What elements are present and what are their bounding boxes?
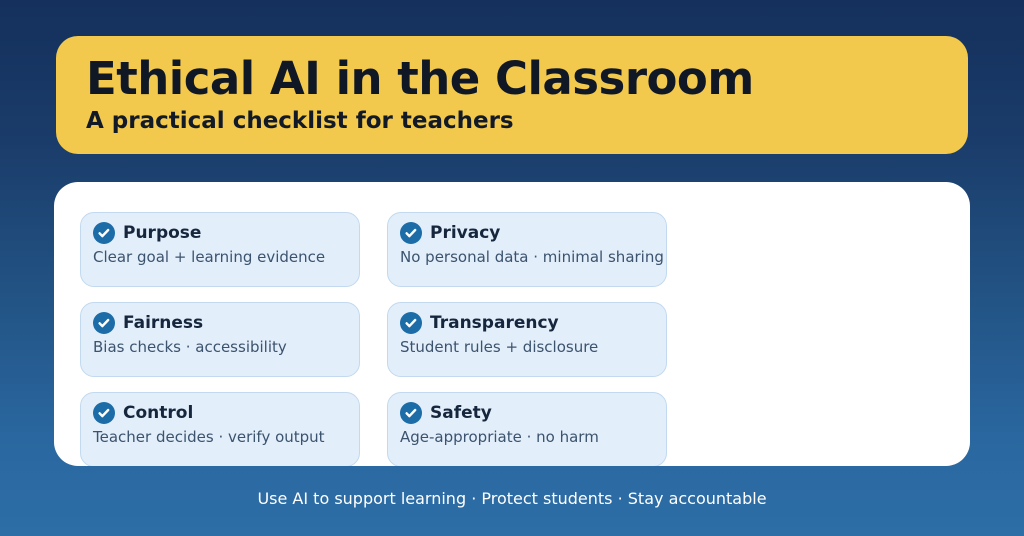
card-header: Transparency (400, 312, 652, 334)
checklist-card-privacy[interactable]: Privacy No personal data · minimal shari… (387, 212, 667, 287)
check-circle-icon (93, 312, 115, 334)
card-description: Bias checks · accessibility (93, 337, 345, 358)
card-description: No personal data · minimal sharing (400, 247, 652, 268)
checklist-panel: Purpose Clear goal + learning evidence P… (54, 182, 970, 466)
card-description: Student rules + disclosure (400, 337, 652, 358)
card-header: Control (93, 402, 345, 424)
card-header: Purpose (93, 222, 345, 244)
check-circle-icon (400, 402, 422, 424)
card-title: Transparency (430, 312, 559, 334)
card-description: Clear goal + learning evidence (93, 247, 345, 268)
check-circle-icon (93, 402, 115, 424)
card-title: Safety (430, 402, 492, 424)
checklist-card-purpose[interactable]: Purpose Clear goal + learning evidence (80, 212, 360, 287)
checklist-card-control[interactable]: Control Teacher decides · verify output (80, 392, 360, 466)
checklist-grid: Purpose Clear goal + learning evidence P… (80, 212, 968, 466)
card-title: Control (123, 402, 193, 424)
check-circle-icon (93, 222, 115, 244)
card-header: Fairness (93, 312, 345, 334)
card-description: Teacher decides · verify output (93, 427, 345, 448)
checklist-card-transparency[interactable]: Transparency Student rules + disclosure (387, 302, 667, 377)
checklist-card-fairness[interactable]: Fairness Bias checks · accessibility (80, 302, 360, 377)
check-circle-icon (400, 222, 422, 244)
card-header: Privacy (400, 222, 652, 244)
footer-tagline: Use AI to support learning · Protect stu… (0, 488, 1024, 510)
card-title: Privacy (430, 222, 500, 244)
check-circle-icon (400, 312, 422, 334)
page-subtitle: A practical checklist for teachers (86, 106, 938, 136)
header-banner: Ethical AI in the Classroom A practical … (56, 36, 968, 154)
card-title: Purpose (123, 222, 201, 244)
poster-canvas: Ethical AI in the Classroom A practical … (0, 0, 1024, 536)
card-description: Age-appropriate · no harm (400, 427, 652, 448)
card-header: Safety (400, 402, 652, 424)
page-title: Ethical AI in the Classroom (86, 52, 938, 106)
card-title: Fairness (123, 312, 203, 334)
checklist-card-safety[interactable]: Safety Age-appropriate · no harm (387, 392, 667, 466)
